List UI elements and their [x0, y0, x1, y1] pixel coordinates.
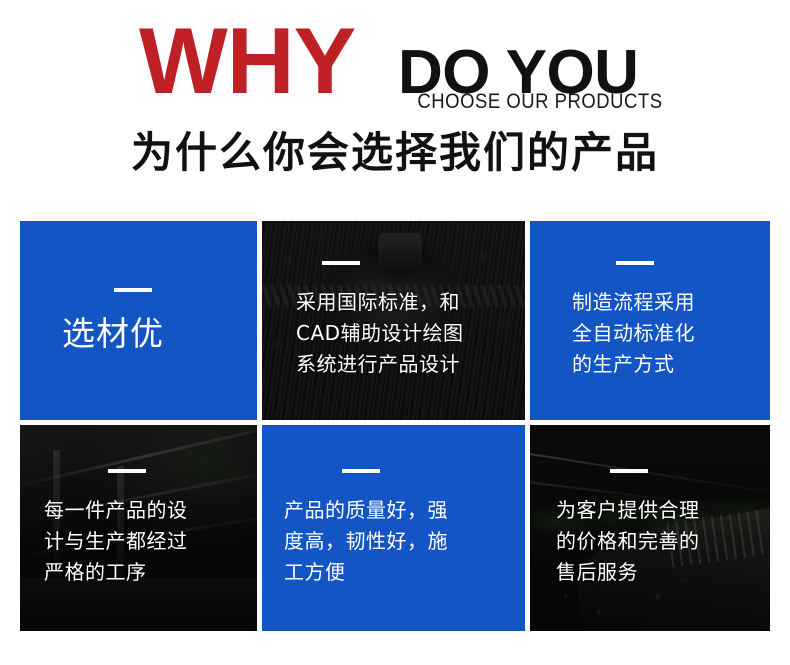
feature-cell-4: 每一件产品的设 计与生产都经过 严格的工序: [20, 425, 257, 631]
divider-dash-icon: [108, 469, 146, 473]
banner-header: WHY DO YOU CHOOSE OUR PRODUCTS 为什么你会选择我们…: [0, 0, 790, 200]
feature-cell-2-text: 采用国际标准，和 CAD辅助设计绘图 系统进行产品设计: [296, 287, 464, 380]
feature-cell-3: 制造流程采用 全自动标准化 的生产方式: [530, 221, 770, 420]
feature-cell-2-content: 采用国际标准，和 CAD辅助设计绘图 系统进行产品设计: [262, 221, 525, 420]
feature-cell-6-content: 为客户提供合理 的价格和完善的 售后服务: [530, 425, 770, 631]
feature-grid: 选材优 采用国际标准，和 CAD辅助设计绘图 系统进行产品设计 制造流程采用 全…: [0, 221, 790, 636]
feature-cell-6: 为客户提供合理 的价格和完善的 售后服务: [530, 425, 770, 631]
headline-why: WHY: [139, 14, 355, 108]
feature-cell-5: 产品的质量好，强 度高，韧性好，施 工方便: [262, 425, 525, 631]
promo-banner: WHY DO YOU CHOOSE OUR PRODUCTS 为什么你会选择我们…: [0, 0, 790, 665]
divider-dash-icon: [322, 261, 360, 265]
feature-cell-6-text: 为客户提供合理 的价格和完善的 售后服务: [556, 495, 700, 588]
subheadline-english: CHOOSE OUR PRODUCTS: [418, 90, 663, 114]
divider-dash-icon: [342, 469, 380, 473]
headline-row: WHY DO YOU: [0, 18, 790, 108]
feature-cell-1-text: 选材优: [62, 314, 164, 354]
divider-dash-icon: [616, 261, 654, 265]
feature-cell-4-content: 每一件产品的设 计与生产都经过 严格的工序: [20, 425, 257, 631]
feature-cell-1: 选材优: [20, 221, 257, 420]
feature-cell-5-text: 产品的质量好，强 度高，韧性好，施 工方便: [284, 495, 448, 588]
feature-cell-3-content: 制造流程采用 全自动标准化 的生产方式: [530, 221, 770, 420]
feature-cell-1-content: 选材优: [20, 221, 257, 420]
feature-cell-4-text: 每一件产品的设 计与生产都经过 严格的工序: [44, 495, 188, 588]
feature-cell-5-content: 产品的质量好，强 度高，韧性好，施 工方便: [262, 425, 525, 631]
feature-cell-3-text: 制造流程采用 全自动标准化 的生产方式: [572, 287, 695, 380]
divider-dash-icon: [114, 288, 152, 292]
feature-cell-2: 采用国际标准，和 CAD辅助设计绘图 系统进行产品设计: [262, 221, 525, 420]
divider-dash-icon: [610, 469, 648, 473]
headline-chinese: 为什么你会选择我们的产品: [0, 128, 790, 178]
